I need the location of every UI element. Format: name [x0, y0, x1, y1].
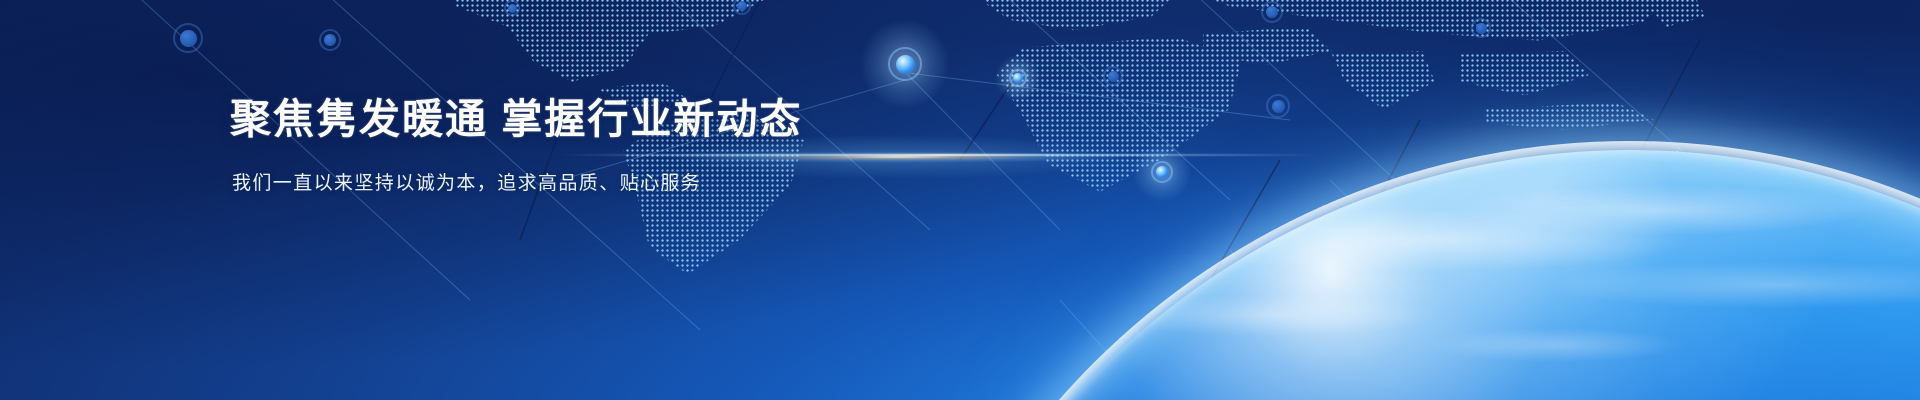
banner-subline: 我们一直以来坚持以诚为本，追求高品质、贴心服务 — [232, 170, 802, 199]
banner-headline: 聚焦隽发暖通 掌握行业新动态 — [230, 96, 802, 144]
banner-text-block: 聚焦隽发暖通 掌握行业新动态 我们一直以来坚持以诚为本，追求高品质、贴心服务 — [230, 96, 802, 198]
hero-banner: 聚焦隽发暖通 掌握行业新动态 我们一直以来坚持以诚为本，追求高品质、贴心服务 — [0, 0, 1920, 400]
